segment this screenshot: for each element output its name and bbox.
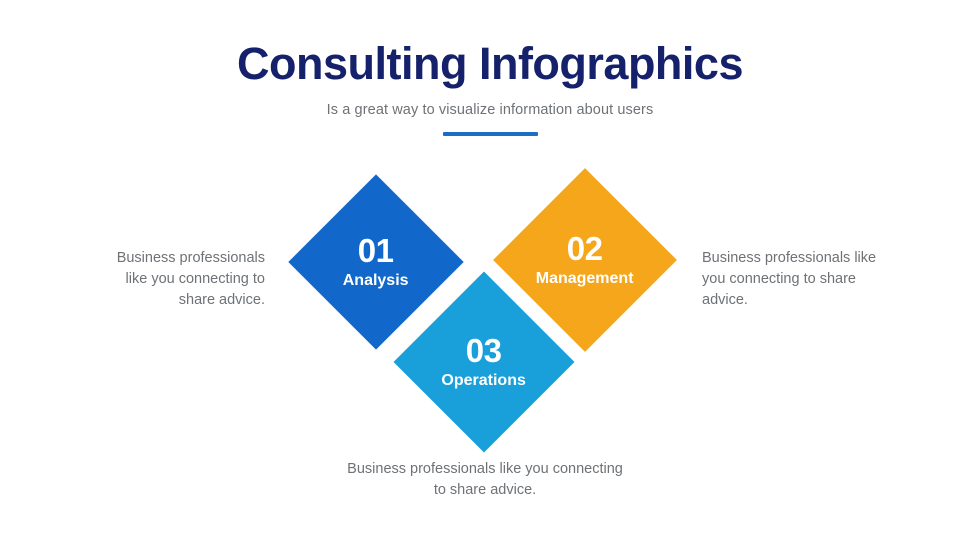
diamond-step-02-label: Management xyxy=(520,269,650,289)
diamond-step-02-content: 02 Management xyxy=(520,232,650,289)
diamond-step-03-label: Operations xyxy=(420,371,548,391)
diamond-step-03-content: 03 Operations xyxy=(420,334,548,391)
infographic-slide: Consulting Infographics Is a great way t… xyxy=(0,0,980,551)
diamond-step-01-content: 01 Analysis xyxy=(314,234,438,291)
diamond-step-01-number: 01 xyxy=(314,234,438,268)
callout-text-step-02: Business professionals like you connecti… xyxy=(702,248,882,311)
diamond-step-01-label: Analysis xyxy=(314,271,438,291)
callout-text-step-03: Business professionals like you connecti… xyxy=(340,459,630,501)
callout-text-step-01: Business professionals like you connecti… xyxy=(95,248,265,311)
diamond-step-03-number: 03 xyxy=(420,334,548,368)
diamond-step-02-number: 02 xyxy=(520,232,650,266)
